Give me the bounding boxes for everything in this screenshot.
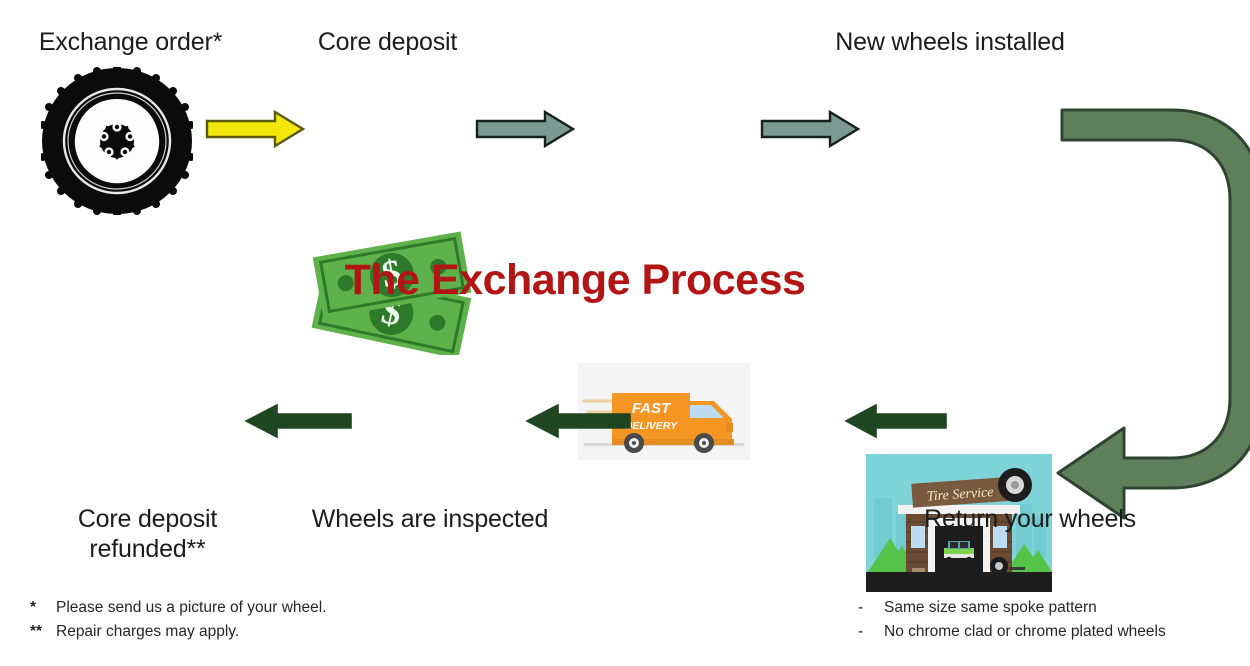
arrow-order-to-deposit [205, 110, 305, 148]
arrow-install-to-return [1048, 104, 1248, 464]
arrow-inspection-to-refund [243, 403, 353, 439]
note-right-1-text: No chrome clad or chrome plated wheels [884, 620, 1166, 644]
exchange-process-diagram: Exchange order* Core deposit New wheels … [0, 0, 1250, 666]
note-left-0-mark: * [30, 596, 56, 620]
arrow-shipping-to-install [760, 110, 860, 148]
note-left-1-text: Repair charges may apply. [56, 620, 239, 644]
page-title: The Exchange Process [225, 256, 925, 305]
arrow-deposit-to-shipping [475, 110, 575, 148]
label-core-deposit-refunded: Core deposit refunded** [25, 505, 270, 564]
note-left-1-mark: ** [30, 620, 56, 644]
note-right-1: - No chrome clad or chrome plated wheels [858, 620, 1248, 644]
note-right-0-mark: - [858, 596, 884, 620]
arrow-return-to-shipping [843, 403, 948, 439]
note-right-1-mark: - [858, 620, 884, 644]
note-right-0: - Same size same spoke pattern [858, 596, 1248, 620]
label-core-deposit: Core deposit [275, 28, 500, 58]
note-left-0-text: Please send us a picture of your wheel. [56, 596, 327, 620]
svg-text:DELIVERY: DELIVERY [625, 420, 678, 432]
notes-right: - Same size same spoke pattern - No chro… [858, 596, 1248, 644]
wheel-dark-rim-icon [41, 67, 193, 215]
note-left-1: ** Repair charges may apply. [30, 620, 460, 644]
label-return-your-wheels: Return your wheels [880, 505, 1180, 535]
note-right-0-text: Same size same spoke pattern [884, 596, 1097, 620]
note-left-0: * Please send us a picture of your wheel… [30, 596, 460, 620]
notes-left: * Please send us a picture of your wheel… [30, 596, 460, 644]
arrow-shipping-to-inspection [524, 403, 632, 439]
label-wheels-inspected: Wheels are inspected [280, 505, 580, 535]
label-exchange-order: Exchange order* [8, 28, 253, 58]
label-new-wheels-installed: New wheels installed [800, 28, 1100, 58]
svg-text:FAST: FAST [632, 400, 672, 417]
